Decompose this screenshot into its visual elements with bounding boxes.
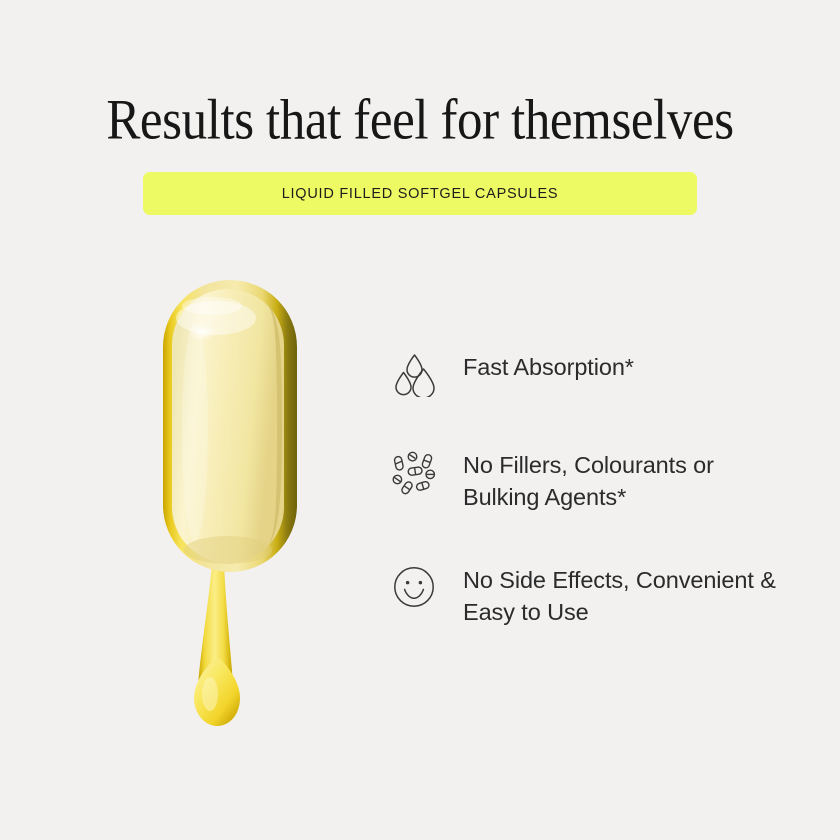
benefits-list: Fast Absorption*	[392, 346, 812, 628]
softgel-capsule-image	[150, 262, 310, 732]
page-title: Results that feel for themselves	[0, 92, 840, 150]
benefit-label: No Side Effects, Convenient & Easy to Us…	[463, 561, 793, 628]
product-benefits-panel: Results that feel for themselves LIQUID …	[0, 0, 840, 840]
list-item: No Side Effects, Convenient & Easy to Us…	[392, 561, 812, 628]
benefit-label: Fast Absorption*	[463, 348, 634, 383]
water-drops-icon	[392, 348, 442, 400]
product-type-banner: LIQUID FILLED SOFTGEL CAPSULES	[143, 172, 697, 215]
pills-capsules-icon	[392, 446, 442, 498]
smiley-face-icon	[392, 561, 442, 613]
list-item: No Fillers, Colourants or Bulking Agents…	[392, 446, 812, 513]
benefit-label: No Fillers, Colourants or Bulking Agents…	[463, 446, 793, 513]
product-type-label: LIQUID FILLED SOFTGEL CAPSULES	[282, 186, 559, 202]
list-item: Fast Absorption*	[392, 348, 812, 400]
